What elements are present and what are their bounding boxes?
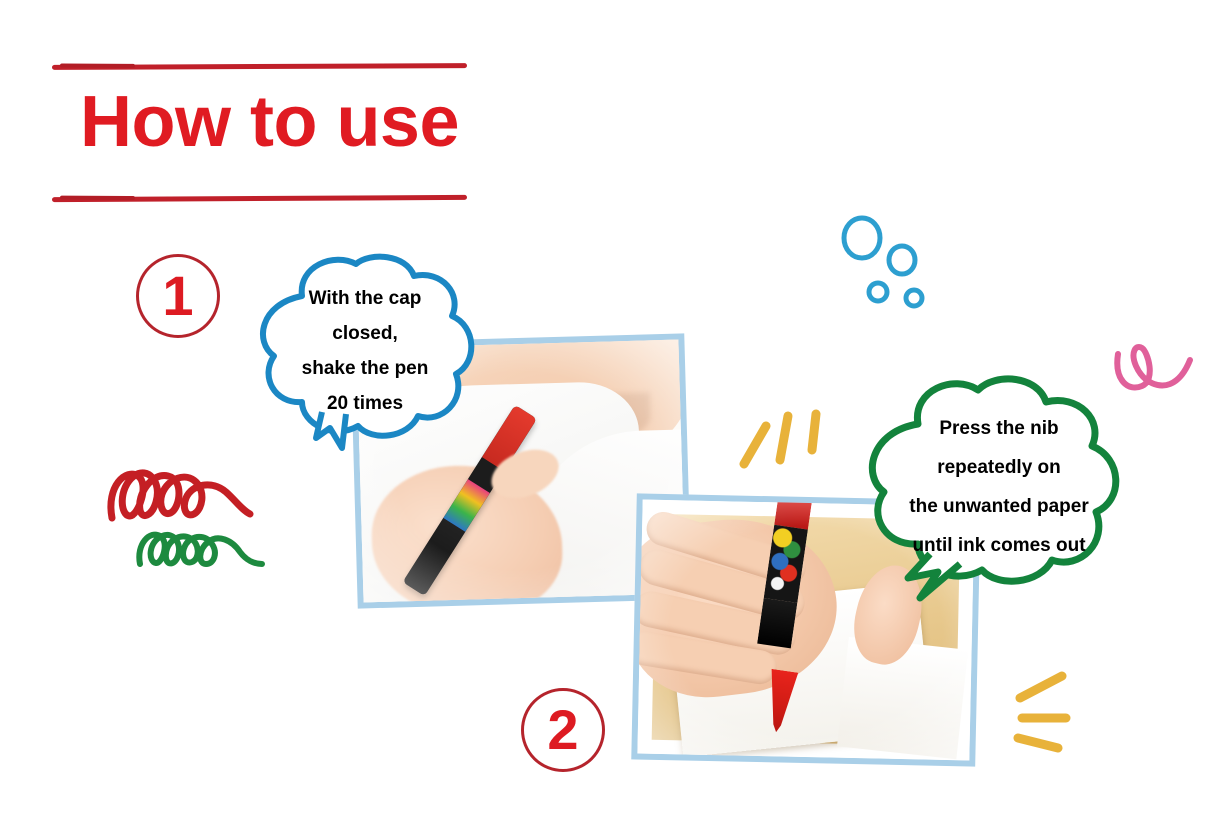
- title-rule-top: [52, 63, 467, 70]
- title-rule-bottom: [52, 195, 467, 202]
- how-to-use-page: How to use: [0, 0, 1221, 840]
- step-badge-1: 1: [136, 254, 220, 338]
- sparkle-right-doodle-icon: [1000, 664, 1082, 759]
- loops-green-doodle-icon: [136, 526, 266, 577]
- step-2-speech-bubble: Press the nib repeatedly on the unwanted…: [856, 372, 1142, 624]
- page-title: How to use: [80, 86, 459, 158]
- step-badge-2: 2: [521, 688, 605, 772]
- loops-red-doodle-icon: [104, 466, 254, 533]
- step-1-speech-bubble: With the cap closed, shake the pen 20 ti…: [238, 252, 492, 468]
- sparkle-left-doodle-icon: [736, 406, 828, 481]
- bubbles-blue-doodle-icon: [836, 214, 940, 315]
